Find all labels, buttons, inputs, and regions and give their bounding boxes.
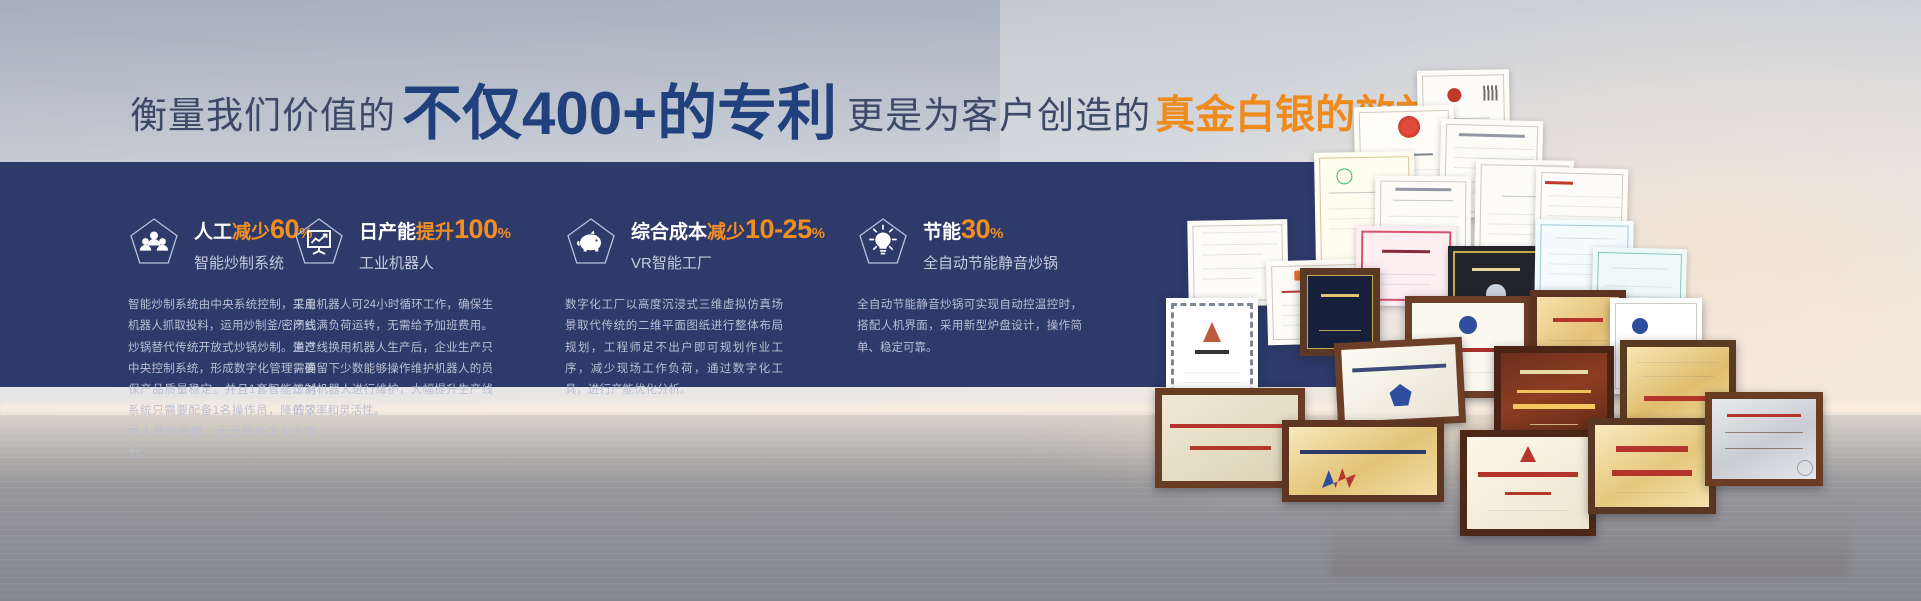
feature-titles: 日产能提升100% 工业机器人 bbox=[359, 214, 511, 273]
certificate-wall bbox=[1160, 48, 1921, 548]
feature-title-unit: % bbox=[498, 225, 511, 242]
feature-header: 综合成本减少10-25% VR智能工厂 bbox=[565, 214, 837, 273]
feature-title-number: 30 bbox=[961, 214, 990, 244]
feature-subtitle: 全自动节能静音炒锅 bbox=[923, 252, 1058, 273]
feature-subtitle: VR智能工厂 bbox=[631, 252, 825, 273]
promo-banner: 衡量我们价值的 不仅400+的专利 更是为客户创造的 真金白银的效益 bbox=[0, 0, 1921, 601]
certificate-item bbox=[1460, 430, 1596, 536]
feature-header: 节能30% 全自动节能静音炒锅 bbox=[857, 214, 1137, 273]
feature-description: 工业机器人可24小时循环工作，确保生产线满负荷运转，无需给予加班费用。生产线换用… bbox=[293, 295, 493, 423]
feature-title-prefix: 日产能 bbox=[359, 222, 416, 243]
feature-title: 综合成本减少10-25% bbox=[631, 216, 825, 243]
certificate-item bbox=[1282, 420, 1444, 502]
feature-title: 节能30% bbox=[923, 216, 1058, 243]
feature-title-unit: % bbox=[990, 225, 1003, 242]
certificate-item bbox=[1334, 337, 1466, 430]
feature-title-prefix: 节能 bbox=[923, 222, 961, 243]
feature-title-accent: 减少 bbox=[707, 222, 745, 243]
feature-description: 全自动节能静音炒锅可实现自动控温控时，搭配人机界面，采用新型炉盘设计，操作简单、… bbox=[857, 295, 1082, 359]
certificate-item bbox=[1588, 418, 1716, 514]
lightbulb-icon bbox=[857, 216, 909, 268]
feature-item-2: 日产能提升100% 工业机器人 工业机器人可24小时循环工作，确保生产线满负荷运… bbox=[275, 162, 547, 387]
feature-titles: 节能30% 全自动节能静音炒锅 bbox=[923, 214, 1058, 273]
feature-item-1: 人工减少60% 智能炒制系统 智能炒制系统由中央系统控制，采用机器人抓取投料，运… bbox=[0, 162, 275, 387]
feature-description: 数字化工厂以高度沉浸式三维虚拟仿真场景取代传统的二维平面图纸进行整体布局规划，工… bbox=[565, 295, 783, 401]
chart-board-icon bbox=[293, 216, 345, 268]
certificate-item bbox=[1705, 392, 1823, 486]
feature-header: 人工减少60% 智能炒制系统 bbox=[128, 214, 275, 273]
feature-title-prefix: 综合成本 bbox=[631, 222, 707, 243]
feature-title-accent: 提升 bbox=[416, 222, 454, 243]
feature-title-unit: % bbox=[812, 225, 825, 242]
feature-item-3: 综合成本减少10-25% VR智能工厂 数字化工厂以高度沉浸式三维虚拟仿真场景取… bbox=[547, 162, 837, 387]
headline-middle: 更是为客户创造的 bbox=[847, 85, 1151, 139]
feature-header: 日产能提升100% 工业机器人 bbox=[293, 214, 547, 273]
feature-title-number: 10-25 bbox=[745, 214, 812, 244]
feature-title: 日产能提升100% bbox=[359, 216, 511, 243]
feature-item-4: 节能30% 全自动节能静音炒锅 全自动节能静音炒锅可实现自动控温控时，搭配人机界… bbox=[837, 162, 1137, 387]
feature-title-number: 100 bbox=[454, 214, 498, 244]
headline-emphasis: 不仅400+的专利 bbox=[402, 84, 837, 144]
headline-lead: 衡量我们价值的 bbox=[130, 85, 396, 139]
people-group-icon bbox=[128, 216, 180, 268]
headline: 衡量我们价值的 不仅400+的专利 更是为客户创造的 真金白银的效益 bbox=[130, 78, 1250, 138]
feature-subtitle: 工业机器人 bbox=[359, 252, 511, 273]
feature-title-prefix: 人工 bbox=[194, 222, 232, 243]
piggy-bank-icon bbox=[565, 216, 617, 268]
feature-title-accent: 减少 bbox=[232, 222, 270, 243]
feature-titles: 综合成本减少10-25% VR智能工厂 bbox=[631, 214, 825, 273]
